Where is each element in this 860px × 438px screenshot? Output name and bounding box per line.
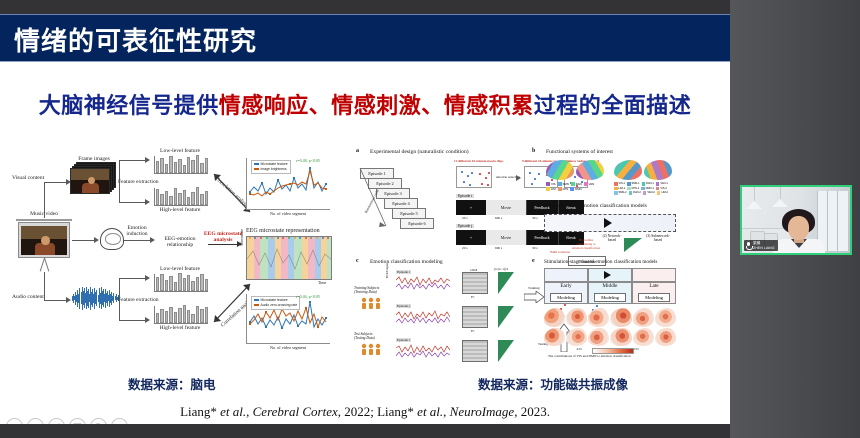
fc-matrix-1 [462, 272, 488, 294]
participant-name-badge: 梁臻ZHEN LIANG [744, 240, 778, 251]
figure-eeg-pipeline: Music video Visual content Frame images [8, 146, 338, 364]
panel-a-key: a [356, 148, 359, 154]
stage-brain-1 [544, 308, 565, 327]
label-microstate-time: Time [318, 281, 326, 286]
trial-time-feedback-1: 30 s [532, 216, 538, 220]
stage-brain-11 [633, 328, 654, 347]
label-eeg-microstate-analysis: EEG microstateanalysis [204, 231, 242, 244]
correlation-plot-top-rvalue: r=0.48, p<0.05 [296, 159, 320, 164]
episode-order-arrow [356, 166, 396, 232]
label-frame-images: Frame images [78, 156, 110, 162]
training-arrow-label: Training [528, 286, 540, 290]
video-to-brain-arrow [94, 237, 99, 243]
citation-etal-2: et al. [417, 404, 443, 419]
fmri-condition-note: fMRI condition [550, 250, 570, 254]
lamp-shade-left [746, 201, 762, 209]
panel-d-model-3: (3) Subnetwork-based [638, 234, 678, 242]
bold-signal-traces-3 [396, 344, 450, 358]
correlation-plot-top-xlabel: No. of video segment [270, 212, 306, 217]
trial-cell-fixation-1: + [456, 200, 487, 215]
trial-cell-movie-1: Movie [486, 200, 527, 215]
fe-bot-spine [119, 278, 120, 320]
microphone-icon [746, 242, 751, 249]
citation-text-1: Liang* [180, 404, 220, 419]
frame-images-stack [70, 162, 116, 194]
label-microstate-yaxis: Microstate [240, 229, 245, 246]
eeg-microstate-raster [246, 236, 332, 280]
stage-brain-6 [655, 308, 676, 327]
panel-b-title: Functional systems of interest [546, 149, 613, 155]
label-feature-extraction-top: Feature extraction [118, 179, 159, 185]
stage-brain-9 [588, 328, 609, 347]
screen-tripod-right [44, 258, 49, 272]
music-video-screen [18, 222, 70, 258]
more-options-button[interactable] [111, 418, 128, 424]
label-visual-content: Visual content [12, 175, 44, 181]
roi-axis-label: n ROI [470, 268, 477, 272]
episode-card-6: Episode 6 [400, 218, 434, 229]
stage-label-early: Early [560, 283, 571, 289]
panel-c-key: c [356, 258, 359, 264]
panel-d-key: d [532, 202, 535, 208]
brain-surface-b4 [644, 160, 672, 180]
participant-video-tile[interactable]: 梁臻ZHEN LIANG [740, 185, 852, 255]
stage-modeling-middle: Modeling [594, 293, 626, 302]
fc-matrix-3 [462, 340, 488, 362]
trial-time-fixation-1: 20 s [462, 216, 468, 220]
stage-modeling-early: Modeling [550, 293, 582, 302]
bold-signal-axis-label: BOLD signal [386, 263, 389, 278]
screen-top-rail [16, 219, 72, 221]
zoom-slide-button[interactable] [90, 418, 107, 424]
citation-text-5: , 2023. [514, 404, 550, 419]
microstate-trace [247, 237, 332, 280]
trial-time-feedback-2: 30 s [532, 246, 538, 250]
fe-bot-down [119, 320, 145, 321]
lamp-wire-right [780, 187, 781, 199]
stage-colorbar-max: 0.01 [634, 348, 639, 351]
bold-signal-traces-1 [396, 276, 450, 290]
panel-a-title: Experimental design (naturalistic condit… [370, 149, 469, 155]
audio-branch-run [44, 300, 66, 301]
label-high-level-bottom: High-level feature [160, 325, 201, 331]
top-letterbox-strip [0, 0, 730, 14]
audio-branch-riser [44, 272, 45, 300]
stage-brain-4 [610, 308, 631, 327]
correlation-plot-bottom-xlabel: No. of video segment [270, 346, 306, 351]
stage-brain-7 [544, 328, 565, 347]
training-subjects-label: Training Subjects(Training Data) [354, 286, 390, 294]
stage-track-late [632, 268, 676, 282]
label-low-level-bottom: Low-level feature [160, 266, 200, 272]
high-level-feature-bars-top [154, 188, 208, 206]
participant-face [788, 216, 809, 240]
test-subjects-label: Test Subjects(Testing Data) [354, 332, 390, 340]
rel-to-micro-line [208, 244, 238, 245]
stage-brain-12 [655, 328, 676, 347]
stage-play-arrow [604, 271, 611, 279]
stage-label-late: Late [649, 283, 658, 289]
fc-matrix-label-2: FC [471, 329, 475, 333]
fe-top-spine [119, 160, 120, 202]
slide-title: 情绪的可表征性研究 [14, 21, 257, 58]
panel-c-title: Emotion classification modeling [370, 259, 443, 265]
fe-top-down [119, 202, 145, 203]
audio-waveform [72, 286, 118, 310]
citation-text-3: , 2022; Liang* [338, 404, 417, 419]
fc-vector-1 [498, 272, 514, 294]
panel-d-title: Episode-based emotion classification mod… [546, 203, 647, 209]
run-label-1: Episode i [456, 194, 474, 198]
panel-b-legend-right: VIS-1 SMN-1 DAN-1 VAN-1 LIM-1 FPN-1 DMN-… [614, 182, 676, 195]
figure-fmri-panels: a Experimental design (naturalistic cond… [352, 146, 724, 368]
grid-icon [73, 422, 82, 424]
panel-b-key: b [532, 148, 535, 154]
lamp-shade-right [772, 199, 788, 207]
signal-run-label-1: Episode i [396, 270, 411, 274]
correlation-plot-bottom-legend: Microstate feature Audio zero-crossing r… [251, 296, 300, 310]
participant-name: 梁臻ZHEN LIANG [753, 241, 775, 250]
correlation-plot-bottom-rvalue: r=0.46, p<0.05 [296, 295, 320, 300]
citation-journal-1: Cerebral Cortex [253, 404, 338, 419]
panel-e-title: Stimulation-stage-based emotion classifi… [544, 259, 657, 265]
caption-left-source: 数据来源：脑电 [128, 374, 216, 393]
test-subject-icons [360, 342, 382, 356]
stage-brain-2 [566, 308, 587, 327]
subtitle-highlight: 情感响应、情感刺激、情感积累 [219, 93, 534, 118]
bold-signal-traces-2 [396, 310, 450, 324]
brain-surface-b3 [614, 160, 642, 180]
meeting-screen-share-view: 情绪的可表征性研究 大脑神经信号提供情感响应、情感刺激、情感积累过程的全面描述 … [0, 0, 860, 438]
panel-b-legend-left: VIS SMN DAN VAN LIM FPN DMN [546, 182, 604, 191]
music-video-thumbnail [21, 226, 67, 255]
trial-cell-fixation-2: + [456, 230, 487, 245]
citation-etal-1: et al. [220, 404, 246, 419]
slide-title-bar: 情绪的可表征性研究 [0, 14, 730, 62]
fc-matrix-2 [462, 306, 488, 328]
pen-icon [52, 422, 61, 424]
citation-journal-2: NeuroImage [450, 404, 515, 419]
next-slide-button[interactable] [27, 418, 44, 424]
audio-branch-arrow [66, 297, 71, 303]
previous-slide-icon [11, 423, 18, 424]
trial-time-fixation-2: 20 s [462, 246, 468, 250]
fc-matrix-label-1: FC [471, 295, 475, 299]
previous-slide-button[interactable] [6, 418, 23, 424]
brain-surface-b2 [576, 160, 604, 180]
presenter-toolbar[interactable] [6, 418, 128, 424]
fc-vector-2 [498, 306, 514, 328]
caption-right-source: 数据来源：功能磁共振成像 [478, 374, 628, 393]
stimuli-set-1 [456, 166, 492, 188]
stimuli-set-1-label: 12 different 10-minute movie clips [454, 159, 503, 163]
brain-surface-b1 [546, 160, 574, 180]
next-slide-icon [32, 423, 39, 424]
label-emotion-induction: Emotioninduction [126, 225, 147, 238]
stage-brain-8 [566, 328, 587, 347]
figures-area: Music video Visual content Frame images [0, 142, 730, 374]
fe-bot-up-arrow [145, 275, 150, 281]
fe-bot-up [119, 278, 145, 279]
trial-cell-movie-2: Movie [486, 230, 527, 245]
stage-label-middle: Middle [603, 283, 618, 289]
brain-to-rel-arrow [150, 237, 155, 243]
brain-to-rel-line [124, 240, 150, 241]
subtitle-part-1: 大脑神经信号提供 [39, 93, 219, 118]
signal-run-label-2: Episode j [396, 304, 411, 308]
stage-colorbar-min: -0.01 [576, 348, 582, 351]
frame-image-top [70, 168, 110, 194]
label-audio-content: Audio content [12, 294, 44, 300]
fc-profile-note: FC profilescontributing toemotion classi… [558, 238, 614, 250]
stage-brain-3 [588, 308, 609, 327]
low-level-feature-bars-top [154, 156, 208, 174]
trial-time-movie-1: 600 s [495, 216, 502, 220]
label-feature-extraction-bottom: Feature extraction [118, 297, 159, 303]
bottom-letterbox-strip [0, 424, 730, 438]
fe-top-up [119, 160, 145, 161]
run-label-2: Episode j [456, 224, 474, 228]
low-level-feature-bars-bottom [154, 274, 208, 292]
fe-top-up-arrow [145, 157, 150, 163]
stage-brain-5 [633, 308, 654, 327]
subtitle-part-2: 过程的全面描述 [534, 93, 692, 118]
trial-time-movie-2: 600 s [495, 246, 502, 250]
fc-vector-size-label: (n×(n−1))/2 [494, 267, 508, 271]
fe-top-down-arrow [145, 199, 150, 205]
pen-tools-button[interactable] [48, 418, 65, 424]
training-subject-icons [360, 296, 382, 310]
ellipsis-icon [115, 422, 124, 424]
lamp-wire-left [754, 187, 755, 201]
magnifier-icon [94, 422, 103, 424]
high-level-feature-bars-bottom [154, 306, 208, 324]
brain-icon [100, 228, 124, 250]
stage-brain-10 [610, 328, 631, 347]
slide-subtitle: 大脑神经信号提供情感响应、情感刺激、情感积累过程的全面描述 [0, 88, 730, 120]
label-eeg-emotion-relationship: EEG-emotionrelationship [164, 236, 195, 249]
label-microstate-title: EEG microstate representation [246, 228, 320, 235]
correlation-plot-top-legend: Microstate feature Image brightness [251, 160, 291, 174]
fc-profile-triangle [624, 238, 642, 252]
all-slides-button[interactable] [69, 418, 86, 424]
visual-branch-run [44, 182, 66, 183]
training-arrow [524, 291, 546, 303]
panel-d-play-arrow [604, 218, 612, 228]
stage-track-early [544, 268, 588, 282]
stimuli-selection-arrow [516, 175, 521, 181]
panel-e-key: e [532, 258, 535, 264]
signal-run-label-3: Episode i [396, 338, 411, 342]
label-high-level-top: High-level feature [160, 207, 201, 213]
stage-brain-caption: The contributions of VIS and DMN to emot… [548, 354, 631, 358]
fe-bot-down-arrow [145, 317, 150, 323]
fc-vector-3 [498, 340, 514, 362]
label-low-level-top: Low-level feature [160, 148, 200, 154]
stage-modeling-late: Modeling [638, 293, 670, 302]
stage-brain-grid [544, 308, 676, 346]
video-to-brain-line [72, 240, 94, 241]
visual-branch-riser [44, 182, 45, 218]
shared-slide: 情绪的可表征性研究 大脑神经信号提供情感响应、情感刺激、情感积累过程的全面描述 … [0, 14, 730, 424]
